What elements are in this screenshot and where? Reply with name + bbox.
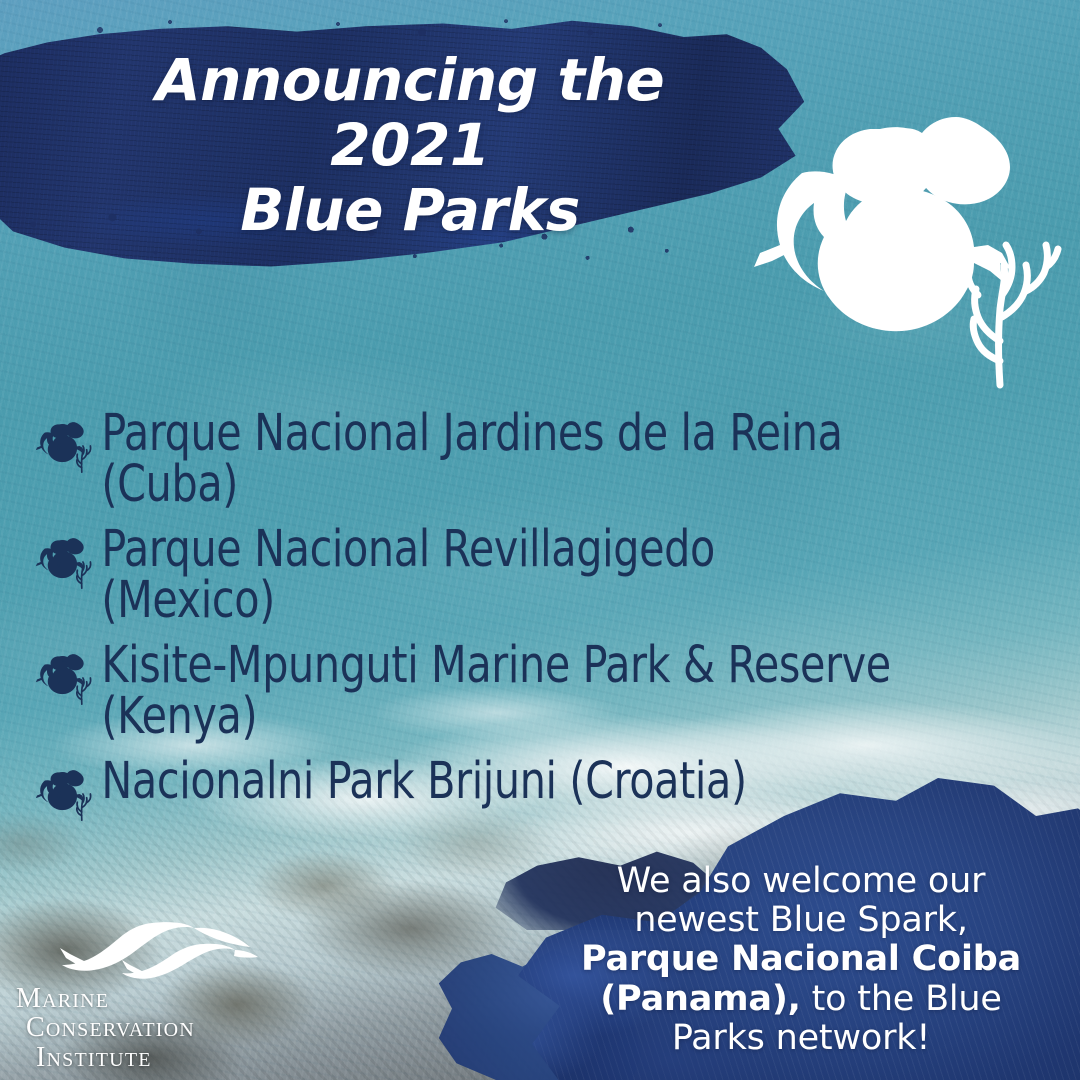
dolphin-manta-coral-icon [34,650,96,706]
title-line-1: Announcing the 2021 [70,48,750,178]
park-list-item: Kisite-Mpunguti Marine Park & Reserve (K… [34,640,1054,742]
blue-spark-welcome-text: We also welcome our newest Blue Spark, P… [566,862,1036,1058]
title-line-2: Blue Parks [70,178,750,243]
dolphin-manta-coral-icon [34,534,96,590]
two-dolphins-mark-icon [52,920,262,990]
poster-title: Announcing the 2021 Blue Parks [70,48,750,243]
park-name-label: Kisite-Mpunguti Marine Park & Reserve (K… [96,640,958,742]
marine-conservation-institute-logo: Marine Conservation Institute [12,920,262,1072]
blue-parks-announcement-poster: Announcing the 2021 Blue Parks [0,0,1080,1080]
logo-line-conservation: Conservation [12,1013,262,1042]
logo-wordmark: Marine Conservation Institute [12,984,262,1072]
logo-line-institute: Institute [12,1043,262,1072]
welcome-text-part1: We also welcome our newest Blue Spark, [617,861,986,940]
logo-line-marine: Marine [12,984,262,1013]
park-list-item: Parque Nacional Jardines de la Reina (Cu… [34,408,1054,510]
park-name-label: Parque Nacional Revillagigedo (Mexico) [96,524,958,626]
park-name-label: Parque Nacional Jardines de la Reina (Cu… [96,408,958,510]
dolphin-manta-coral-icon [34,418,96,474]
marine-life-illustration [750,95,1070,395]
dolphin-manta-coral-icon [34,766,96,822]
brushstroke-spatter-top [30,6,730,46]
park-list-item: Parque Nacional Revillagigedo (Mexico) [34,524,1054,626]
